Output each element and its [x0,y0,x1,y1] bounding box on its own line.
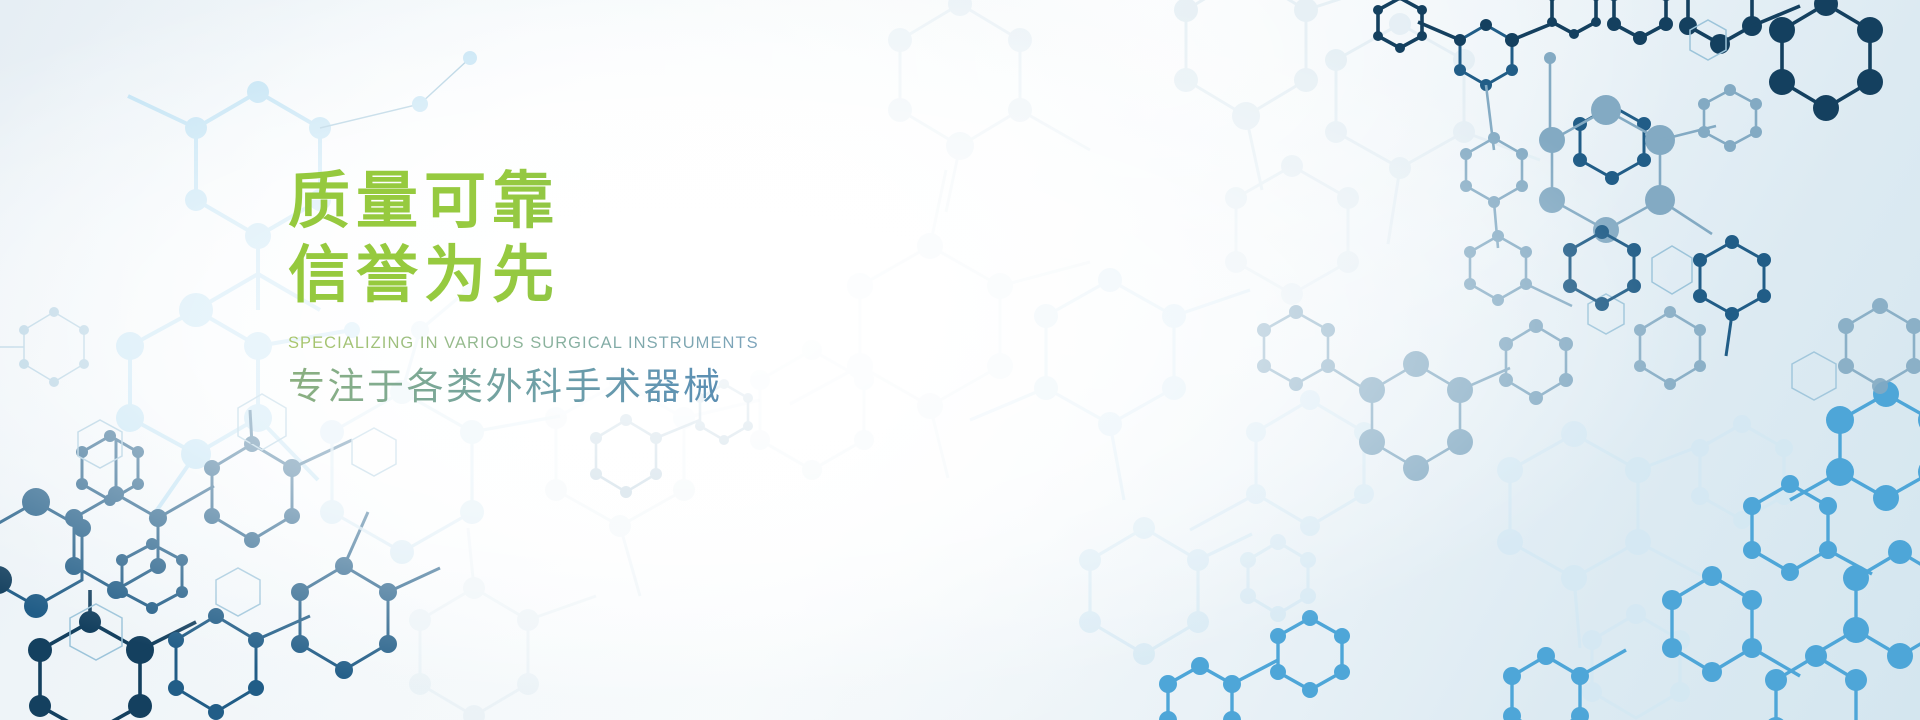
headline-line-1: 质量可靠 [288,166,1048,238]
molecule-group-topright-faint [1174,0,1540,305]
molecule-group-upperright-steel [1257,294,1624,481]
molecule-group-topright-navy [1373,0,1601,306]
subtitle-english: SPECIALIZING IN VARIOUS SURGICAL INSTRUM… [288,334,1048,353]
subtitle-chinese: 专注于各类外科手术器械 [288,364,1048,410]
molecule-group-bottomright-blue [1159,381,1920,720]
molecule-group-rightmid-pale [1497,415,1793,718]
molecule-group-bottomcenter-ghost [409,528,596,720]
hero-text-block: 质量可靠 信誉为先 SPECIALIZING IN VARIOUS SURGIC… [288,166,1048,410]
molecule-group-bottomleft-navy [0,394,440,720]
headline-line-2: 信誉为先 [288,240,1048,312]
molecule-group-left-small-rings [0,307,89,387]
hero-banner: .ln-ghost { stroke:#e0ecf3; stroke-width… [0,0,1920,720]
molecule-group-rightlower-steel [1634,298,1920,400]
